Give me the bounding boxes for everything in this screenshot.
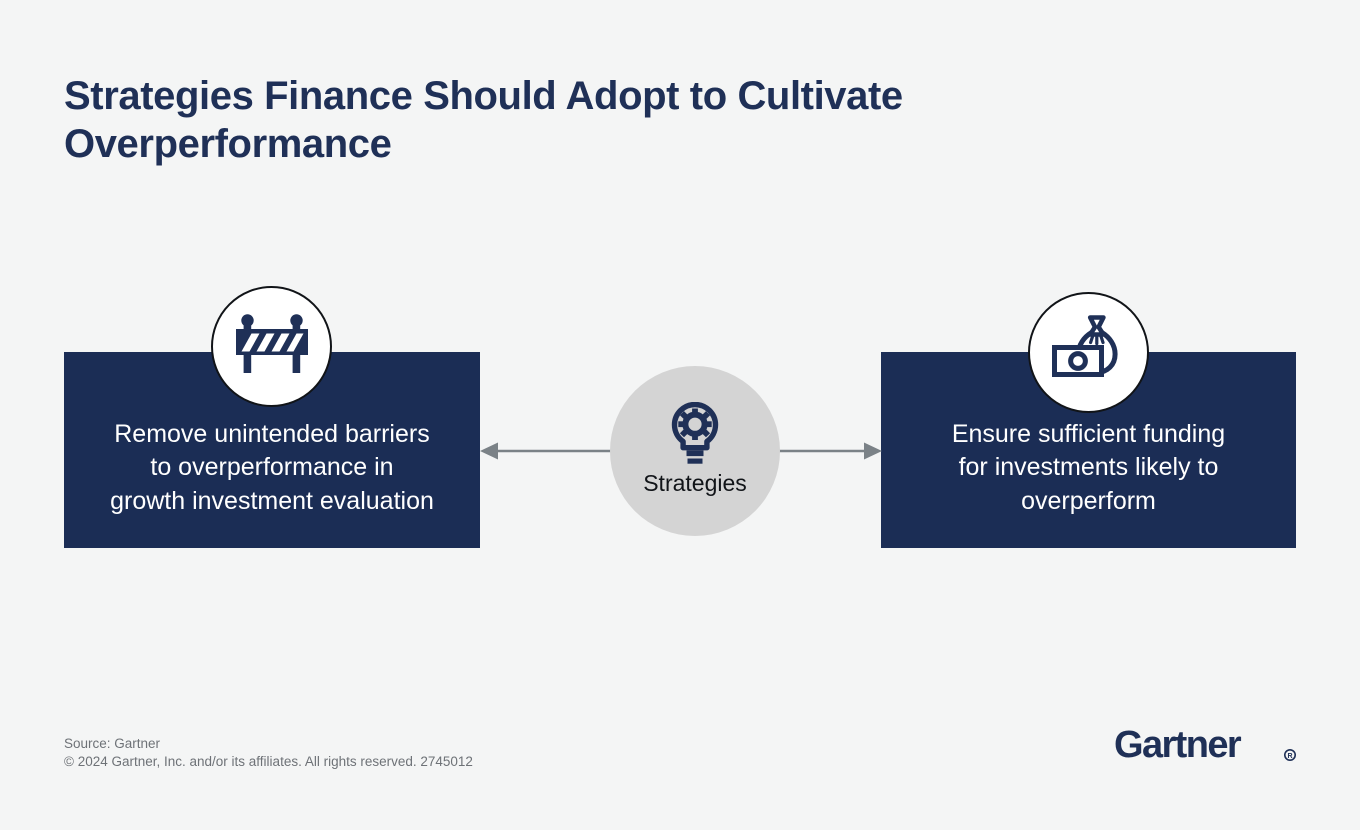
arrow-left-icon [480, 443, 498, 460]
left-connector [478, 437, 618, 465]
right-icon-badge [1028, 292, 1149, 413]
page-title: Strategies Finance Should Adopt to Culti… [64, 72, 1074, 168]
gartner-wordmark: Gartner [1114, 727, 1242, 766]
center-strategies-label: Strategies [643, 470, 747, 496]
left-icon-badge [211, 286, 332, 407]
gartner-logo: Gartner R [1114, 727, 1299, 767]
center-strategies-node: Strategies [610, 366, 780, 536]
slide-canvas: Strategies Finance Should Adopt to Culti… [0, 0, 1360, 830]
road-barrier-icon [234, 313, 310, 380]
money-bag-icon [1050, 314, 1128, 391]
lightbulb-gear-icon [668, 402, 722, 464]
svg-text:R: R [1287, 753, 1292, 760]
left-strategy-text: Remove unintended barriers to overperfor… [102, 418, 442, 519]
arrow-right-icon [864, 443, 882, 460]
source-attribution: Source: Gartner © 2024 Gartner, Inc. and… [64, 735, 473, 770]
right-connector [772, 437, 884, 465]
right-strategy-text: Ensure sufficient funding for investment… [944, 418, 1233, 519]
